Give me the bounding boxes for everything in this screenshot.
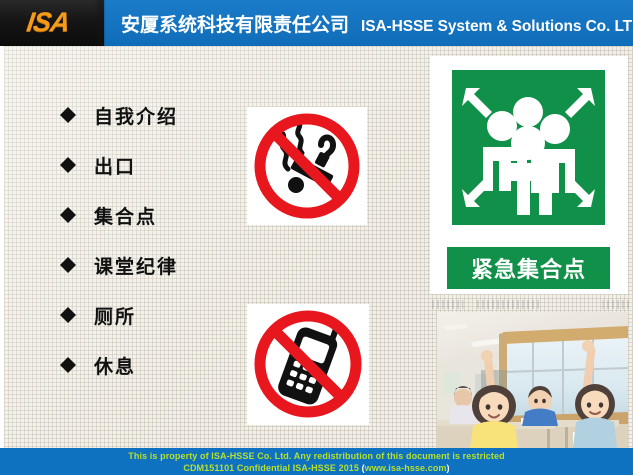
slide-footer: This is property of ISA-HSSE Co. Ltd. An… xyxy=(0,448,633,475)
diamond-bullet-icon xyxy=(60,199,76,215)
isa-logo-icon: ISA xyxy=(25,7,71,38)
header-title-bar: 安厦系统科技有限责任公司 ISA-HSSE System & Solutions… xyxy=(104,0,633,46)
footer-doc-code: CDM151101 Confidential ISA-HSSE 2015 xyxy=(183,463,361,473)
list-item: 自我介绍 xyxy=(60,90,270,140)
no-smoking-icon xyxy=(247,107,367,225)
assembly-point-icon xyxy=(452,70,605,225)
header-title-english: ISA-HSSE System & Solutions Co. LTD xyxy=(361,18,633,36)
no-mobile-phone-sign xyxy=(247,304,369,425)
slide-header: ISA 安厦系统科技有限责任公司 ISA-HSSE System & Solut… xyxy=(0,0,633,46)
header-title-chinese: 安厦系统科技有限责任公司 xyxy=(121,10,349,37)
diamond-bullet-icon xyxy=(60,299,76,315)
assembly-point-label: 紧急集合点 xyxy=(471,252,586,284)
agenda-item-label: 自我介绍 xyxy=(94,102,178,129)
agenda-item-label: 出口 xyxy=(94,152,136,179)
no-mobile-phone-icon xyxy=(247,304,369,425)
company-logo-block: ISA xyxy=(0,0,104,46)
agenda-item-label: 集合点 xyxy=(94,202,157,229)
footer-copyright-line: This is property of ISA-HSSE Co. Ltd. An… xyxy=(0,450,633,462)
photo-watermark-strip xyxy=(432,300,630,309)
diamond-bullet-icon xyxy=(60,99,76,115)
list-item: 厕所 xyxy=(60,290,270,340)
assembly-point-label-banner: 紧急集合点 xyxy=(447,247,610,289)
agenda-list: 自我介绍 出口 集合点 课堂纪律 厕所 休息 xyxy=(60,90,270,390)
diamond-bullet-icon xyxy=(60,149,76,165)
no-smoking-sign xyxy=(247,107,367,225)
agenda-item-label: 厕所 xyxy=(94,302,136,329)
list-item: 出口 xyxy=(60,140,270,190)
diamond-bullet-icon xyxy=(60,249,76,265)
list-item: 休息 xyxy=(60,340,270,390)
emergency-assembly-point-sign: 紧急集合点 xyxy=(430,56,628,294)
footer-close-paren: ) xyxy=(447,463,450,473)
footer-website-link[interactable]: www.isa-hsse.com xyxy=(365,463,447,473)
slide-canvas: ISA 安厦系统科技有限责任公司 ISA-HSSE System & Solut… xyxy=(0,0,633,475)
list-item: 课堂纪律 xyxy=(60,240,270,290)
agenda-item-label: 休息 xyxy=(94,352,136,379)
list-item: 集合点 xyxy=(60,190,270,240)
classroom-students-photo xyxy=(437,312,628,448)
footer-document-line: CDM151101 Confidential ISA-HSSE 2015 (ww… xyxy=(0,462,633,474)
agenda-item-label: 课堂纪律 xyxy=(94,252,178,279)
diamond-bullet-icon xyxy=(60,349,76,365)
